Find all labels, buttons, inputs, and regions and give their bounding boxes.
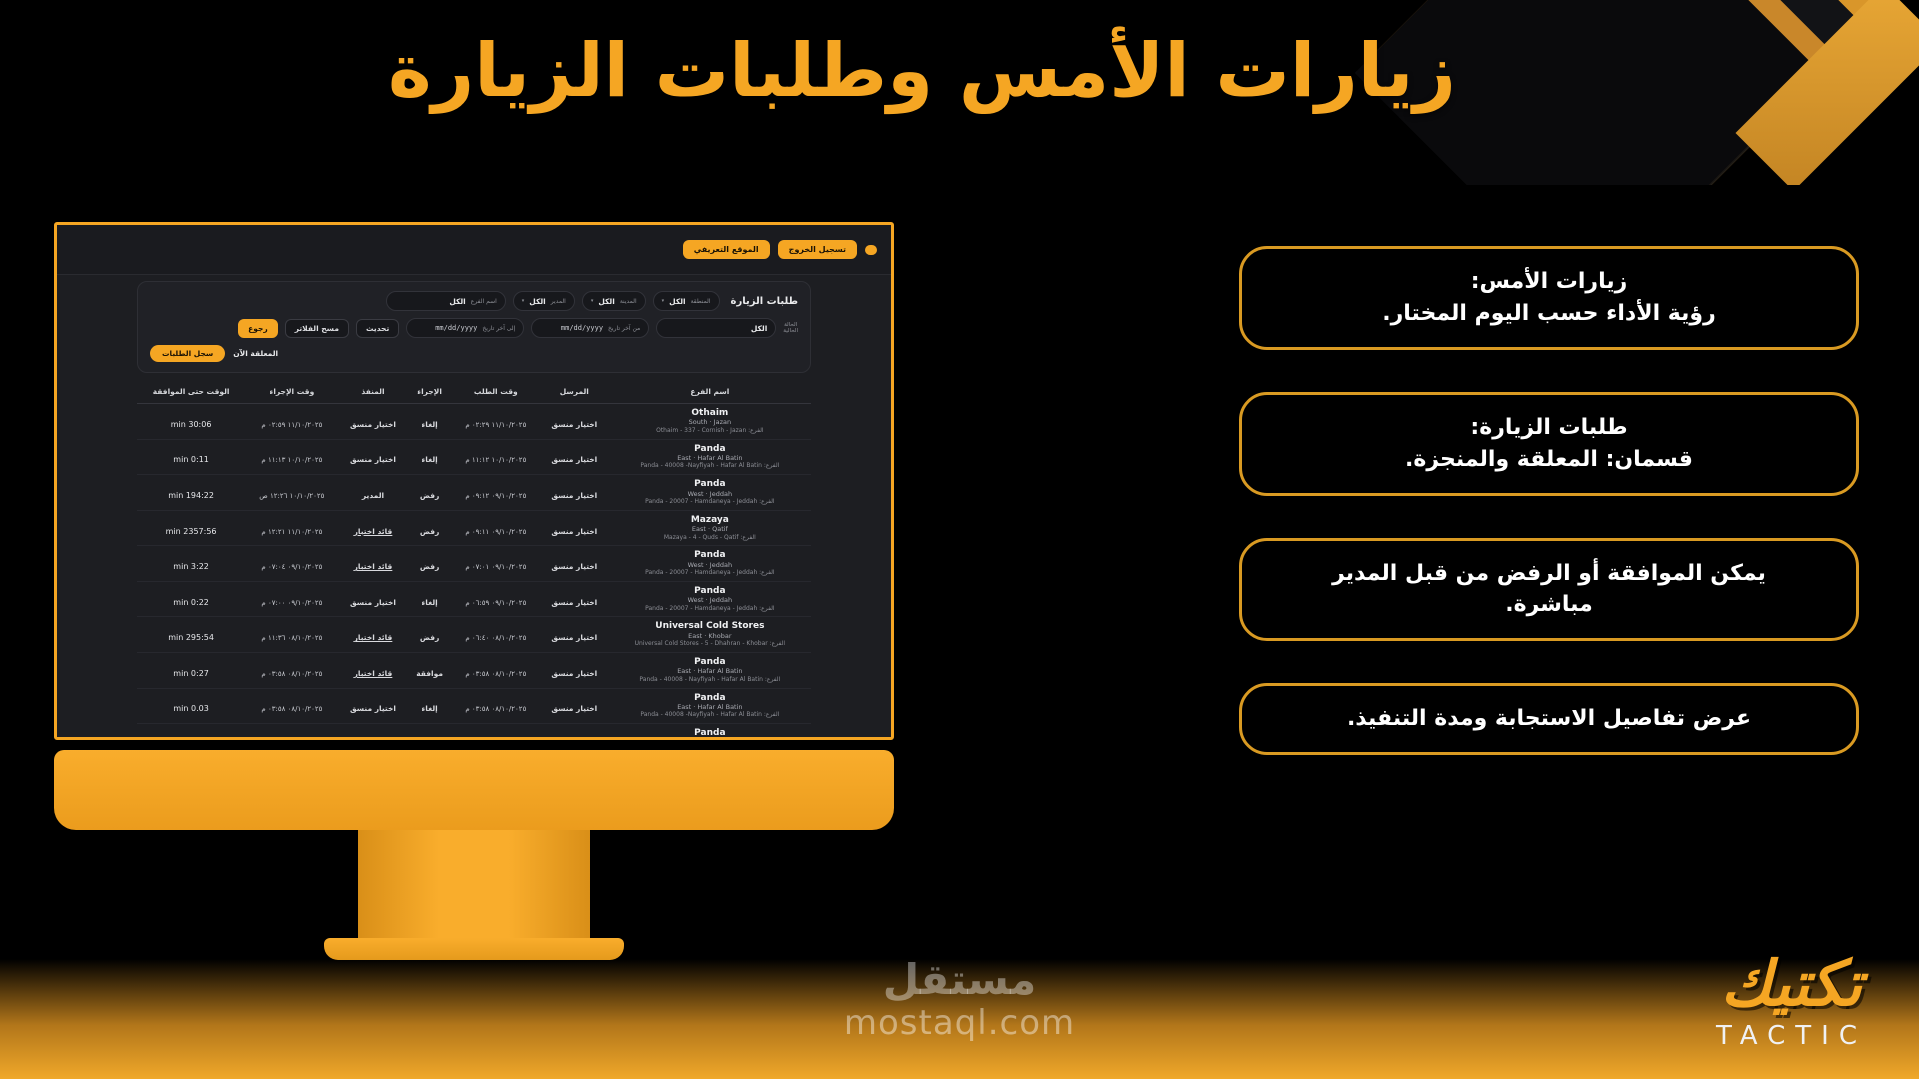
table-row[interactable]: PandaWest · Jeddahالفرع: Panda - 20007 -…: [137, 475, 811, 511]
branch-full: الفرع: Panda - 20007 - Hamdaneya - Jedda…: [613, 569, 807, 577]
chevron-down-icon: ▾: [662, 298, 665, 304]
cell-executor-text: اختيار منسق: [350, 598, 396, 607]
cell-sender-text: اختيار منسق: [551, 633, 597, 642]
callout-1-line2: رؤية الأداء حسب اليوم المختار.: [1264, 298, 1834, 330]
corner-gold-slab: [1736, 0, 1919, 185]
cell-action: إلغاء: [407, 688, 451, 724]
cell-duration-text: min 0.03: [173, 704, 208, 713]
cell-action-time: ٠٩/١٠/٢٠٢٥ ٠٧:٠٠ م: [245, 581, 338, 617]
cell-sender-text: اختيار منسق: [551, 704, 597, 713]
cell-action: موافقة: [407, 653, 451, 689]
cell-action: إلغاء: [407, 404, 451, 440]
table-row[interactable]: PandaEast · Hafar Al Batinالفرع: Panda -…: [137, 724, 811, 737]
cell-request-time-text: ٠٩/١٠/٢٠٢٥ ٠٩:١١ م: [465, 528, 526, 536]
cell-executor-text: اختيار منسق: [350, 420, 396, 429]
table-row[interactable]: PandaEast · Hafar Al Batinالفرع: Panda -…: [137, 439, 811, 475]
cell-action: رفض: [407, 546, 451, 582]
cell-action: رفض: [407, 724, 451, 737]
tactic-logo-mark: تكتيك: [1716, 953, 1867, 1015]
cell-duration-text: min 295:54: [168, 633, 214, 642]
cell-sender: اختيار منسق: [540, 475, 609, 511]
cell-duration: min 2357:56: [137, 510, 245, 546]
cell-action-text: رفض: [420, 562, 439, 571]
cell-action-time: ٠٨/١٠/٢٠٢٥ ١١:٣٦ م: [245, 617, 338, 653]
table-row[interactable]: OthaimSouth · Jazanالفرع: Othaim - 337 -…: [137, 404, 811, 440]
cell-branch: PandaWest · Jeddahالفرع: Panda - 20007 -…: [609, 546, 811, 582]
logout-button[interactable]: تسجيل الخروج: [778, 240, 857, 259]
cell-executor: اختيار منسق: [339, 581, 408, 617]
cell-sender-text: اختيار منسق: [551, 598, 597, 607]
filter-row-3: المعلقة الآن سجل الطلبات: [150, 345, 798, 362]
col-sender: المرسل: [540, 381, 609, 404]
callout-4-line1: عرض تفاصيل الاستجابة ومدة التنفيذ.: [1347, 706, 1751, 731]
filter-branch-label: اسم الفرع: [471, 298, 497, 305]
cell-executor-text: قائد اختبار: [354, 562, 393, 571]
cell-request-time: ١٠/١٠/٢٠٢٥ ١١:١٢ م: [452, 439, 540, 475]
table-body: OthaimSouth · Jazanالفرع: Othaim - 337 -…: [137, 404, 811, 738]
cell-action-time-text: ٠٩/١٠/٢٠٢٥ ٠٧:٠٤ م: [261, 563, 322, 571]
cell-request-time-text: ١١/١٠/٢٠٢٥ ٠٢:٢٩ م: [465, 421, 526, 429]
cell-duration: min 0:55: [137, 724, 245, 737]
col-action: الإجراء: [407, 381, 451, 404]
cell-action: إلغاء: [407, 581, 451, 617]
cell-branch: PandaWest · Jeddahالفرع: Panda - 20007 -…: [609, 475, 811, 511]
cell-branch: PandaEast · Hafar Al Batinالفرع: Panda -…: [609, 439, 811, 475]
requests-table: اسم الفرع المرسل وقت الطلب الإجراء المنف…: [137, 381, 811, 737]
cell-sender: اختيار منسق: [540, 510, 609, 546]
branch-name: Mazaya: [613, 515, 807, 525]
filter-manager-value: الكل: [529, 297, 545, 306]
monitor-foot: [324, 938, 624, 960]
cell-request-time-text: ٠٨/١٠/٢٠٢٥ ٠٣:٥٨ م: [465, 705, 526, 713]
branch-name: Panda: [613, 586, 807, 596]
branch-full: الفرع: Panda - 20007 - Hamdaneya - Jedda…: [613, 498, 807, 506]
cell-executor: اختيار منسق: [339, 688, 408, 724]
filter-date-from[interactable]: من آخر تاريخ mm/dd/yyyy: [531, 318, 649, 338]
cell-duration-text: min 0:22: [173, 598, 209, 607]
cell-executor: المدير: [339, 475, 408, 511]
watermark-latin: mostaql.com: [844, 1003, 1075, 1043]
cell-branch: Universal Cold StoresEast · Khobarالفرع:…: [609, 617, 811, 653]
requests-table-wrap: اسم الفرع المرسل وقت الطلب الإجراء المنف…: [137, 381, 811, 737]
cell-sender-text: اختيار منسق: [551, 527, 597, 536]
clear-filters-button[interactable]: مسح الفلاتر: [285, 319, 349, 338]
branch-region: West · Jeddah: [613, 490, 807, 498]
table-row[interactable]: PandaEast · Hafar Al Batinالفرع: Panda -…: [137, 653, 811, 689]
cell-request-time-text: ٠٨/١٠/٢٠٢٥ ٠٦:٤٠ م: [465, 634, 526, 642]
table-row[interactable]: PandaWest · Jeddahالفرع: Panda - 20007 -…: [137, 581, 811, 617]
page-title: زيارات الأمس وطلبات الزيارة: [270, 22, 1574, 122]
cell-sender-text: اختيار منسق: [551, 562, 597, 571]
branch-region: West · Jeddah: [613, 596, 807, 604]
cell-sender: اختيار منسق: [540, 581, 609, 617]
cell-action-time-text: ٠٨/١٠/٢٠٢٥ ٠٣:٥٨ م: [261, 670, 322, 678]
cell-duration-text: min 30:06: [171, 420, 212, 429]
cell-executor: اختيار منسق: [339, 404, 408, 440]
cell-executor-text: اختيار منسق: [350, 704, 396, 713]
monitor-neck: [358, 830, 590, 938]
cell-duration-text: min 2357:56: [166, 527, 217, 536]
panel-title: طلبات الزيارة: [731, 296, 798, 307]
col-branch-name: اسم الفرع: [609, 381, 811, 404]
cell-duration: min 0:27: [137, 653, 245, 689]
cell-sender-text: اختيار منسق: [551, 491, 597, 500]
cell-action-time-text: ٠٨/١٠/٢٠٢٥ ١١:٣٦ م: [261, 634, 322, 642]
refresh-button[interactable]: تحديث: [356, 319, 399, 338]
branch-region: East · Hafar Al Batin: [613, 667, 807, 675]
branch-region: West · Jeddah: [613, 561, 807, 569]
app-content: طلبات الزيارة المنطقة الكل ▾ المدينة الك…: [57, 275, 891, 737]
cell-executor-text: قائد اختبار: [354, 633, 393, 642]
table-header-row: اسم الفرع المرسل وقت الطلب الإجراء المنف…: [137, 381, 811, 404]
cell-action-text: رفض: [420, 491, 439, 500]
cell-sender-text: اختيار منسق: [551, 455, 597, 464]
cell-request-time: ٠٨/١٠/٢٠٢٥ ٠٦:٤٠ م: [452, 617, 540, 653]
cell-duration: min 0:11: [137, 439, 245, 475]
cell-request-time-text: ١٠/١٠/٢٠٢٥ ١١:١٢ م: [465, 456, 526, 464]
tactic-logo: تكتيك TACTIC: [1716, 953, 1867, 1051]
cell-sender: اختيار منسق: [540, 724, 609, 737]
cell-action-time-text: ١٠/١٠/٢٠٢٥ ١٢:٢٦ ص: [259, 492, 324, 500]
branch-full: الفرع: Panda - 40008 - Nayfiyah - Hafar …: [613, 676, 807, 684]
cell-duration: min 194:22: [137, 475, 245, 511]
callout-2-line2: قسمان: المعلقة والمنجزة.: [1264, 444, 1834, 476]
cell-request-time: ٠٨/١٠/٢٠٢٥ ٠٣:٥٨ م: [452, 688, 540, 724]
cell-duration: min 3:22: [137, 546, 245, 582]
cell-action-text: إلغاء: [421, 598, 437, 607]
filter-manager[interactable]: المدير الكل ▾: [513, 291, 575, 311]
branch-region: East · Khobar: [613, 632, 807, 640]
info-site-button[interactable]: الموقع التعريفي: [683, 240, 770, 259]
cell-action-time: ٠٨/١٠/٢٠٢٥ ٠٣:٥٨ م: [245, 688, 338, 724]
filter-status-value: الكل: [751, 324, 767, 333]
cell-request-time-text: ٠٨/١٠/٢٠٢٥ ٠٣:٥٨ م: [465, 670, 526, 678]
cell-duration: min 30:06: [137, 404, 245, 440]
watermark-arabic: مستقل: [844, 959, 1075, 1001]
cell-request-time: ٠٩/١٠/٢٠٢٥ ٠٧:٠١ م: [452, 546, 540, 582]
cell-duration: min 0:22: [137, 581, 245, 617]
cell-request-time-text: ٠٩/١٠/٢٠٢٥ ٠٦:٥٩ م: [465, 599, 526, 607]
cell-action-time: ٠٩/١٠/٢٠٢٥ ٠٧:٠٤ م: [245, 546, 338, 582]
cell-request-time: ٠٩/١٠/٢٠٢٥ ٠٦:٥٩ م: [452, 581, 540, 617]
cell-branch: PandaEast · Hafar Al Batinالفرع: Panda -…: [609, 653, 811, 689]
branch-full: الفرع: Panda - 40008 -Nayfiyah - Hafar A…: [613, 711, 807, 719]
cell-action-time: ١١/١٠/٢٠٢٥ ١٢:٢١ م: [245, 510, 338, 546]
branch-name: Panda: [613, 728, 807, 737]
filter-region-label: المنطقة: [691, 298, 711, 305]
cell-duration-text: min 0:27: [173, 669, 209, 678]
cell-request-time: ٠٨/١٠/٢٠٢٥ ٠٣:٥٨ م: [452, 653, 540, 689]
branch-name: Panda: [613, 693, 807, 703]
cell-action-time: ١٠/١٠/٢٠٢٥ ١٢:٢٦ ص: [245, 475, 338, 511]
branch-region: East · Hafar Al Batin: [613, 454, 807, 462]
cell-sender: اختيار منسق: [540, 688, 609, 724]
table-row[interactable]: PandaWest · Jeddahالفرع: Panda - 20007 -…: [137, 546, 811, 582]
cell-request-time-text: ٠٩/١٠/٢٠٢٥ ٠٩:١٢ م: [465, 492, 526, 500]
chevron-down-icon: ▾: [522, 298, 525, 304]
filter-card: طلبات الزيارة المنطقة الكل ▾ المدينة الك…: [137, 281, 811, 373]
cell-executor: قائد اختبار: [339, 510, 408, 546]
chevron-down-icon: ▾: [591, 298, 594, 304]
cell-executor: قائد اختبار: [339, 546, 408, 582]
filter-branch[interactable]: اسم الفرع الكل: [386, 291, 506, 311]
cell-action-time-text: ١١/١٠/٢٠٢٥ ١٢:٢١ م: [261, 528, 322, 536]
cell-action-time: ٠٨/١٠/٢٠٢٥ ٠٣:٥٨ م: [245, 653, 338, 689]
monitor-mockup: تسجيل الخروج الموقع التعريفي طلبات الزيا…: [54, 222, 894, 960]
callout-yesterday-visits: زيارات الأمس: رؤية الأداء حسب اليوم المخ…: [1239, 246, 1859, 350]
filter-status-label-line1: الحالة: [784, 322, 797, 328]
cell-action-time-text: ١١/١٠/٢٠٢٥ ٠٢:٥٩ م: [261, 421, 322, 429]
callout-2-line1: طلبات الزيارة:: [1470, 415, 1627, 440]
cell-action: رفض: [407, 510, 451, 546]
cell-action-text: إلغاء: [421, 455, 437, 464]
monitor-base: [54, 750, 894, 830]
cell-branch: PandaEast · Hafar Al Batinالفرع: Panda -…: [609, 688, 811, 724]
cell-sender: اختيار منسق: [540, 653, 609, 689]
cell-executor: قائد اختبار: [339, 617, 408, 653]
tactic-logo-text: TACTIC: [1716, 1021, 1867, 1051]
cell-branch: MazayaEast · Qatifالفرع: Mazaya - 4 - Qu…: [609, 510, 811, 546]
cell-action-time: ٠٨/١٠/٢٠٢٥ ٠٣:٤١ م: [245, 724, 338, 737]
branch-full: الفرع: Othaim - 337 - Cornish - Jazan: [613, 427, 807, 435]
col-executor: المنفذ: [339, 381, 408, 404]
branch-full: الفرع: Panda - 40008 -Nayfiyah - Hafar A…: [613, 462, 807, 470]
cell-action-text: موافقة: [416, 669, 443, 678]
cell-executor-text: المدير: [362, 491, 384, 500]
callout-manager-approval: يمكن الموافقة أو الرفض من قبل المدير مبا…: [1239, 538, 1859, 642]
filter-date-to-value: mm/dd/yyyy: [435, 324, 477, 332]
callout-3-line1: يمكن الموافقة أو الرفض من قبل المدير: [1332, 561, 1766, 586]
table-row[interactable]: MazayaEast · Qatifالفرع: Mazaya - 4 - Qu…: [137, 510, 811, 546]
cell-action-text: رفض: [420, 527, 439, 536]
cell-sender: اختيار منسق: [540, 546, 609, 582]
cell-duration-text: min 3:22: [173, 562, 209, 571]
callout-visit-requests: طلبات الزيارة: قسمان: المعلقة والمنجزة.: [1239, 392, 1859, 496]
cell-executor-text: قائد اختبار: [354, 669, 393, 678]
filter-city[interactable]: المدينة الكل ▾: [582, 291, 646, 311]
pending-now-label: المعلقة الآن: [233, 349, 278, 358]
callout-response-details: عرض تفاصيل الاستجابة ومدة التنفيذ.: [1239, 683, 1859, 755]
corner-dark-slab: [1784, 53, 1919, 185]
filter-region[interactable]: المنطقة الكل ▾: [653, 291, 720, 311]
cell-action-text: إلغاء: [421, 420, 437, 429]
filter-date-to[interactable]: إلى آخر تاريخ mm/dd/yyyy: [406, 318, 524, 338]
branch-name: Panda: [613, 550, 807, 560]
cell-action: رفض: [407, 475, 451, 511]
filter-date-from-value: mm/dd/yyyy: [561, 324, 603, 332]
watermark: مستقل mostaql.com: [844, 959, 1075, 1043]
col-action-time: وقت الإجراء: [245, 381, 338, 404]
filter-city-label: المدينة: [620, 298, 637, 305]
table-row[interactable]: PandaEast · Hafar Al Batinالفرع: Panda -…: [137, 688, 811, 724]
requests-log-button[interactable]: سجل الطلبات: [150, 345, 225, 362]
cell-duration: min 0.03: [137, 688, 245, 724]
cell-request-time: ٠٨/١٠/٢٠٢٥ ٠٣:٤٠ م: [452, 724, 540, 737]
cell-executor-text: قائد اختبار: [354, 527, 393, 536]
filter-branch-value: الكل: [449, 297, 465, 306]
cell-action-time-text: ٠٩/١٠/٢٠٢٥ ٠٧:٠٠ م: [261, 599, 322, 607]
cell-action-text: إلغاء: [421, 704, 437, 713]
cell-action-time-text: ٠٨/١٠/٢٠٢٥ ٠٣:٥٨ م: [261, 705, 322, 713]
cell-action-time-text: ١٠/١٠/٢٠٢٥ ١١:١٣ م: [261, 456, 322, 464]
cell-sender-text: اختيار منسق: [551, 420, 597, 429]
branch-region: East · Hafar Al Batin: [613, 703, 807, 711]
branch-name: Panda: [613, 657, 807, 667]
cell-sender: اختيار منسق: [540, 617, 609, 653]
cell-action-time: ١١/١٠/٢٠٢٥ ٠٢:٥٩ م: [245, 404, 338, 440]
cell-executor: قائد اختبار: [339, 653, 408, 689]
callout-3-line2: مباشرة.: [1264, 589, 1834, 621]
filter-region-value: الكل: [669, 297, 685, 306]
cell-executor: قائد اختبار: [339, 724, 408, 737]
branch-name: Universal Cold Stores: [613, 621, 807, 631]
cell-action: رفض: [407, 617, 451, 653]
cell-action-time: ١٠/١٠/٢٠٢٥ ١١:١٣ م: [245, 439, 338, 475]
cell-request-time: ٠٩/١٠/٢٠٢٥ ٠٩:١١ م: [452, 510, 540, 546]
branch-region: South · Jazan: [613, 418, 807, 426]
cell-executor-text: اختيار منسق: [350, 455, 396, 464]
col-duration: الوقت حتى الموافقة: [137, 381, 245, 404]
col-request-time: وقت الطلب: [452, 381, 540, 404]
filter-date-to-label: إلى آخر تاريخ: [482, 325, 515, 332]
cell-action: إلغاء: [407, 439, 451, 475]
cell-request-time: ٠٩/١٠/٢٠٢٥ ٠٩:١٢ م: [452, 475, 540, 511]
cell-duration-text: min 0:11: [173, 455, 209, 464]
topbar-edge-button[interactable]: [865, 245, 877, 255]
callout-list: زيارات الأمس: رؤية الأداء حسب اليوم المخ…: [1239, 246, 1859, 755]
cell-request-time-text: ٠٩/١٠/٢٠٢٥ ٠٧:٠١ م: [465, 563, 526, 571]
cell-request-time: ١١/١٠/٢٠٢٥ ٠٢:٢٩ م: [452, 404, 540, 440]
screen: تسجيل الخروج الموقع التعريفي طلبات الزيا…: [54, 222, 894, 740]
branch-name: Othaim: [613, 408, 807, 418]
filter-city-value: الكل: [598, 297, 614, 306]
filter-row-2: الحالة الحالية الكل من آخر تاريخ mm/dd/y…: [150, 318, 798, 338]
branch-full: الفرع: Universal Cold Stores - 5 - Dhahr…: [613, 640, 807, 648]
back-button[interactable]: رجوع: [238, 319, 278, 338]
cell-action-text: رفض: [420, 633, 439, 642]
branch-full: الفرع: Mazaya - 4 - Quds - Qatif: [613, 534, 807, 542]
filter-status-label: الحالة الحالية: [783, 322, 798, 335]
cell-duration: min 295:54: [137, 617, 245, 653]
cell-branch: OthaimSouth · Jazanالفرع: Othaim - 337 -…: [609, 404, 811, 440]
branch-full: الفرع: Panda - 20007 - Hamdaneya - Jedda…: [613, 605, 807, 613]
table-row[interactable]: Universal Cold StoresEast · Khobarالفرع:…: [137, 617, 811, 653]
cell-sender: اختيار منسق: [540, 404, 609, 440]
filter-date-from-label: من آخر تاريخ: [608, 325, 640, 332]
filter-status[interactable]: الكل: [656, 318, 776, 338]
branch-name: Panda: [613, 444, 807, 454]
table-head: اسم الفرع المرسل وقت الطلب الإجراء المنف…: [137, 381, 811, 404]
cell-sender-text: اختيار منسق: [551, 669, 597, 678]
filter-manager-label: المدير: [551, 298, 566, 305]
branch-name: Panda: [613, 479, 807, 489]
filter-status-label-line2: الحالية: [783, 328, 798, 334]
cell-sender: اختيار منسق: [540, 439, 609, 475]
callout-1-line1: زيارات الأمس:: [1471, 269, 1628, 294]
branch-region: East · Qatif: [613, 525, 807, 533]
filter-row-1: طلبات الزيارة المنطقة الكل ▾ المدينة الك…: [150, 291, 798, 311]
app-topbar: تسجيل الخروج الموقع التعريفي: [57, 225, 891, 275]
cell-branch: PandaWest · Jeddahالفرع: Panda - 20007 -…: [609, 581, 811, 617]
cell-duration-text: min 194:22: [168, 491, 214, 500]
cell-branch: PandaEast · Hafar Al Batinالفرع: Panda -…: [609, 724, 811, 737]
cell-executor: اختيار منسق: [339, 439, 408, 475]
